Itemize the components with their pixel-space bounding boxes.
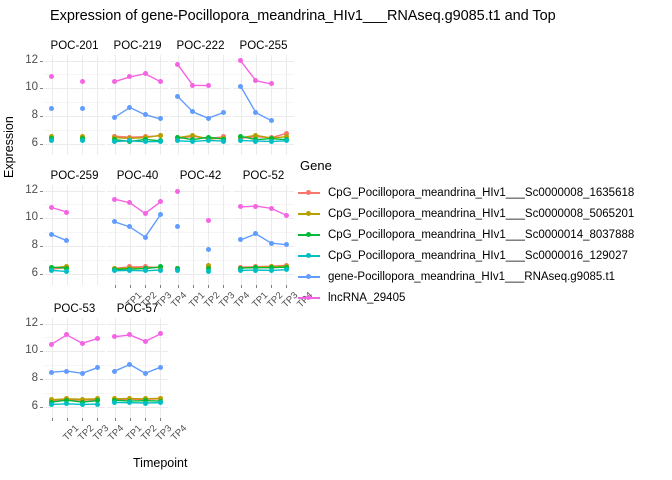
facet-panel-poc-52: POC-52 [233, 170, 294, 285]
x-axis-tick-mark [130, 285, 131, 288]
y-axis-tick-label: 6 [16, 401, 38, 412]
legend-item-label: CpG_Pocillopora_meandrina_HIv1___Sc00000… [328, 187, 634, 199]
data-point [269, 206, 274, 211]
y-axis-tick-mark [40, 218, 43, 219]
data-point [112, 197, 117, 202]
legend-item[interactable]: CpG_Pocillopora_meandrina_HIv1___Sc00000… [298, 203, 634, 224]
data-point [206, 247, 211, 252]
panel-area [107, 55, 168, 155]
data-point [95, 336, 100, 341]
x-axis-tick-label: TP4 [169, 423, 189, 443]
facet-strip-label: POC-201 [44, 40, 105, 53]
data-point [221, 110, 226, 115]
data-point [80, 106, 85, 111]
data-point [269, 268, 274, 273]
data-point [143, 235, 148, 240]
data-point [143, 112, 148, 117]
y-axis-tick-mark [40, 88, 43, 89]
legend-key-swatch [298, 186, 320, 200]
legend-item-label: lncRNA_29405 [328, 292, 405, 304]
data-point [49, 74, 54, 79]
facet-strip-label: POC-255 [233, 40, 294, 53]
data-point [175, 189, 180, 194]
data-point [112, 139, 117, 144]
legend-key-dot [306, 232, 311, 237]
panel-area [44, 318, 105, 418]
x-axis-tick-mark [271, 285, 272, 288]
panel-area [170, 185, 231, 285]
x-axis-tick-mark [67, 418, 68, 421]
legend-title: Gene [300, 158, 634, 173]
x-axis-tick-mark [223, 285, 224, 288]
legend-item[interactable]: CpG_Pocillopora_meandrina_HIv1___Sc00000… [298, 224, 634, 245]
x-axis-tick-mark [145, 285, 146, 288]
legend-item-label: CpG_Pocillopora_meandrina_HIv1___Sc00000… [328, 250, 628, 262]
facet-panel-poc-219: POC-219 [107, 40, 168, 155]
y-axis-tick-label: 10 [16, 345, 38, 356]
data-point [158, 139, 163, 144]
facet-panel-poc-255: POC-255 [233, 40, 294, 155]
y-axis-tick-mark [40, 379, 43, 380]
x-axis-tick-label: TP4 [106, 423, 126, 443]
y-axis-tick-label: 6 [16, 268, 38, 279]
y-axis-tick-label: 6 [16, 138, 38, 149]
facet-panel-poc-259: POC-259 [44, 170, 105, 285]
panel-area [44, 185, 105, 285]
legend-item-label: gene-Pocillopora_meandrina_HIv1___RNAseq… [328, 271, 615, 283]
x-axis-tick-mark [115, 285, 116, 288]
facet-strip-label: POC-219 [107, 40, 168, 53]
y-axis-tick-label: 12 [16, 185, 38, 196]
page-title: Expression of gene-Pocillopora_meandrina… [50, 8, 556, 24]
y-axis-tick-label: 8 [16, 373, 38, 384]
facet-panel-poc-201: POC-201 [44, 40, 105, 155]
x-axis-tick-mark [145, 418, 146, 421]
y-axis-tick-mark [40, 246, 43, 247]
data-point [112, 369, 117, 374]
facet-panel-poc-57: POC-57 [107, 303, 168, 418]
y-axis-tick-mark [40, 351, 43, 352]
legend-item[interactable]: CpG_Pocillopora_meandrina_HIv1___Sc00000… [298, 245, 634, 266]
y-axis-tick-label: 8 [16, 110, 38, 121]
data-point [284, 213, 289, 218]
y-axis-tick-mark [40, 407, 43, 408]
data-point [143, 71, 148, 76]
legend-item-label: CpG_Pocillopora_meandrina_HIv1___Sc00000… [328, 229, 634, 241]
facet-panel-poc-53: POC-53 [44, 303, 105, 418]
data-point [238, 84, 243, 89]
x-axis-tick-label: TP4 [232, 290, 252, 310]
facet-strip-label: POC-40 [107, 170, 168, 183]
data-point [158, 365, 163, 370]
y-axis-tick-label: 10 [16, 212, 38, 223]
y-axis-tick-mark [40, 144, 43, 145]
data-point [158, 268, 163, 273]
panel-area [233, 55, 294, 155]
data-point [143, 371, 148, 376]
y-axis-tick-label: 12 [16, 318, 38, 329]
data-point [158, 133, 163, 138]
legend-key-swatch [298, 207, 320, 221]
panel-area [170, 55, 231, 155]
y-axis-tick-mark [40, 191, 43, 192]
legend-items: CpG_Pocillopora_meandrina_HIv1___Sc00000… [298, 182, 634, 308]
facet-panel-poc-222: POC-222 [170, 40, 231, 155]
x-axis-tick-mark [286, 285, 287, 288]
data-point [143, 139, 148, 144]
facet-strip-label: POC-222 [170, 40, 231, 53]
facet-panel-poc-40: POC-40 [107, 170, 168, 285]
legend-key-dot [306, 211, 311, 216]
data-point [49, 370, 54, 375]
legend-item[interactable]: gene-Pocillopora_meandrina_HIv1___RNAseq… [298, 266, 634, 287]
legend-key-dot [306, 190, 311, 195]
data-point [175, 268, 180, 273]
x-axis-title: Timepoint [133, 456, 187, 470]
data-point [80, 138, 85, 143]
data-point [269, 118, 274, 123]
data-point [206, 269, 211, 274]
x-axis-tick-mark [115, 418, 116, 421]
data-point [143, 268, 148, 273]
data-point [253, 268, 258, 273]
x-axis-tick-mark [130, 418, 131, 421]
panel-area [44, 55, 105, 155]
y-axis-title: Expression [2, 116, 16, 178]
facet-strip-label: POC-42 [170, 170, 231, 183]
chart-root: Expression of gene-Pocillopora_meandrina… [0, 0, 672, 480]
panel-area [107, 185, 168, 285]
data-point [269, 241, 274, 246]
legend-item[interactable]: lncRNA_29405 [298, 287, 634, 308]
legend-key-swatch [298, 228, 320, 242]
legend-key-dot [306, 274, 311, 279]
x-axis-tick-label: TP4 [169, 290, 189, 310]
data-point [143, 339, 148, 344]
data-point [221, 139, 226, 144]
x-axis-tick-mark [160, 285, 161, 288]
y-axis-tick-mark [40, 324, 43, 325]
data-point [269, 139, 274, 144]
x-axis-tick-mark [208, 285, 209, 288]
data-point [49, 232, 54, 237]
data-point [80, 402, 85, 407]
y-axis-tick-label: 12 [16, 55, 38, 66]
panel-area [233, 185, 294, 285]
data-point [206, 138, 211, 143]
data-point [112, 115, 117, 120]
x-axis-tick-mark [241, 285, 242, 288]
data-point [80, 371, 85, 376]
data-point [143, 211, 148, 216]
x-axis-tick-mark [97, 418, 98, 421]
legend-key-dot [306, 295, 311, 300]
legend-key-swatch [298, 291, 320, 305]
data-point [49, 402, 54, 407]
y-axis-tick-mark [40, 61, 43, 62]
data-point [143, 401, 148, 406]
facet-strip-label: POC-57 [107, 303, 168, 316]
data-point [49, 342, 54, 347]
legend-key-swatch [298, 270, 320, 284]
data-point [175, 94, 180, 99]
data-point [64, 369, 69, 374]
x-axis-tick-mark [193, 285, 194, 288]
data-point [80, 79, 85, 84]
x-axis-tick-mark [52, 418, 53, 421]
legend-item-label: CpG_Pocillopora_meandrina_HIv1___Sc00000… [328, 208, 634, 220]
y-axis-tick-label: 8 [16, 240, 38, 251]
data-point [95, 402, 100, 407]
x-axis-tick-mark [256, 285, 257, 288]
y-axis-tick-mark [40, 116, 43, 117]
x-axis-tick-mark [82, 418, 83, 421]
facet-panel-poc-42: POC-42 [170, 170, 231, 285]
data-point [206, 116, 211, 121]
y-axis-tick-mark [40, 274, 43, 275]
legend: Gene CpG_Pocillopora_meandrina_HIv1___Sc… [298, 158, 634, 308]
legend-key-dot [306, 253, 311, 258]
x-axis-tick-mark [178, 285, 179, 288]
facet-strip-label: POC-259 [44, 170, 105, 183]
data-point [80, 341, 85, 346]
x-axis-tick-mark [160, 418, 161, 421]
facet-strip-label: POC-53 [44, 303, 105, 316]
data-point [206, 218, 211, 223]
legend-key-swatch [298, 249, 320, 263]
y-axis-tick-label: 10 [16, 82, 38, 93]
facet-strip-label: POC-52 [233, 170, 294, 183]
panel-area [107, 318, 168, 418]
data-point [206, 83, 211, 88]
legend-item[interactable]: CpG_Pocillopora_meandrina_HIv1___Sc00000… [298, 182, 634, 203]
